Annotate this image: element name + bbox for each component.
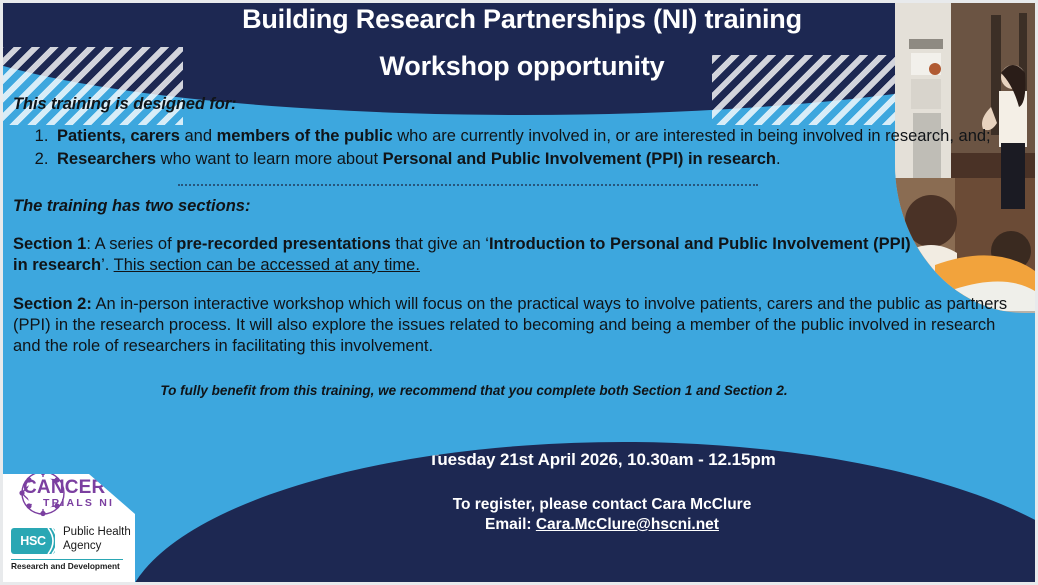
footer-content: Tuesday 21st April 2026, 10.30am - 12.15… xyxy=(123,442,1038,582)
pha-name: Public Health Agency xyxy=(63,525,133,553)
section-2-text: An in-person interactive workshop which … xyxy=(13,295,1007,355)
poster-slide: Building Research Partnerships (NI) trai… xyxy=(0,0,1038,585)
audience-list: Patients, carers and members of the publ… xyxy=(13,126,1025,171)
page-title-line-2: Workshop opportunity xyxy=(380,53,665,80)
section-1-label: Section 1 xyxy=(13,235,86,253)
contact-email-link[interactable]: Cara.McClure@hscni.net xyxy=(536,516,719,533)
section-1-underlined-note: This section can be accessed at any time… xyxy=(114,256,420,274)
hsc-mark-label: HSC xyxy=(20,534,46,548)
list-item: Patients, carers and members of the publ… xyxy=(53,126,1025,148)
section-1-bold-a: pre-recorded presentations xyxy=(176,235,391,253)
audience-1-bold-2: members of the public xyxy=(217,127,393,145)
audience-1-bold-1: Patients, carers xyxy=(57,127,180,145)
hsc-swoosh-icon xyxy=(47,528,57,554)
cancer-trials-ni-logo: CANCER TRIALS NI xyxy=(9,470,129,518)
page-title-line-1: Building Research Partnerships (NI) trai… xyxy=(242,6,802,33)
public-health-agency-logo: HSC Public Health Agency Research and De… xyxy=(11,526,129,576)
logo-panel: CANCER TRIALS NI HSC Public Health Agenc… xyxy=(3,462,135,582)
section-1-text-a: : A series of xyxy=(86,235,176,253)
audience-1-rest: who are currently involved in, or are in… xyxy=(393,127,991,145)
footer-banner: Tuesday 21st April 2026, 10.30am - 12.15… xyxy=(123,442,1038,585)
cancer-trials-name-main: CANCER xyxy=(23,477,105,499)
body-content: This training is designed for: Patients,… xyxy=(13,95,1025,398)
dotted-divider xyxy=(178,184,758,186)
recommendation-note: To fully benefit from this training, we … xyxy=(13,383,1025,398)
audience-2-rest: . xyxy=(776,150,781,168)
register-instruction: To register, please contact Cara McClure xyxy=(123,496,1038,514)
list-item: Researchers who want to learn more about… xyxy=(53,149,1025,171)
pha-name-line-2: Agency xyxy=(63,539,133,553)
contact-email-row: Email: Cara.McClure@hscni.net xyxy=(123,516,1038,534)
audience-2-bold-1: Researchers xyxy=(57,150,156,168)
audience-1-mid: and xyxy=(180,127,217,145)
designed-for-heading: This training is designed for: xyxy=(13,95,1025,114)
pha-tagline: Research and Development xyxy=(11,561,129,571)
audience-2-mid: who want to learn more about xyxy=(156,150,383,168)
event-datetime: Tuesday 21st April 2026, 10.30am - 12.15… xyxy=(123,450,1038,470)
section-1-paragraph: Section 1: A series of pre-recorded pres… xyxy=(13,234,913,276)
pha-name-line-1: Public Health xyxy=(63,525,133,539)
section-2-paragraph: Section 2: An in-person interactive work… xyxy=(13,294,1013,357)
section-1-text-b: that give an ‘ xyxy=(391,235,489,253)
two-sections-heading: The training has two sections: xyxy=(13,197,1025,216)
section-2-label: Section 2: xyxy=(13,295,92,313)
section-1-text-c: ’. xyxy=(101,256,114,274)
pha-divider xyxy=(11,559,123,560)
email-label: Email: xyxy=(485,516,536,533)
cancer-trials-name-sub: TRIALS NI xyxy=(43,497,114,509)
audience-2-bold-2: Personal and Public Involvement (PPI) in… xyxy=(383,150,776,168)
